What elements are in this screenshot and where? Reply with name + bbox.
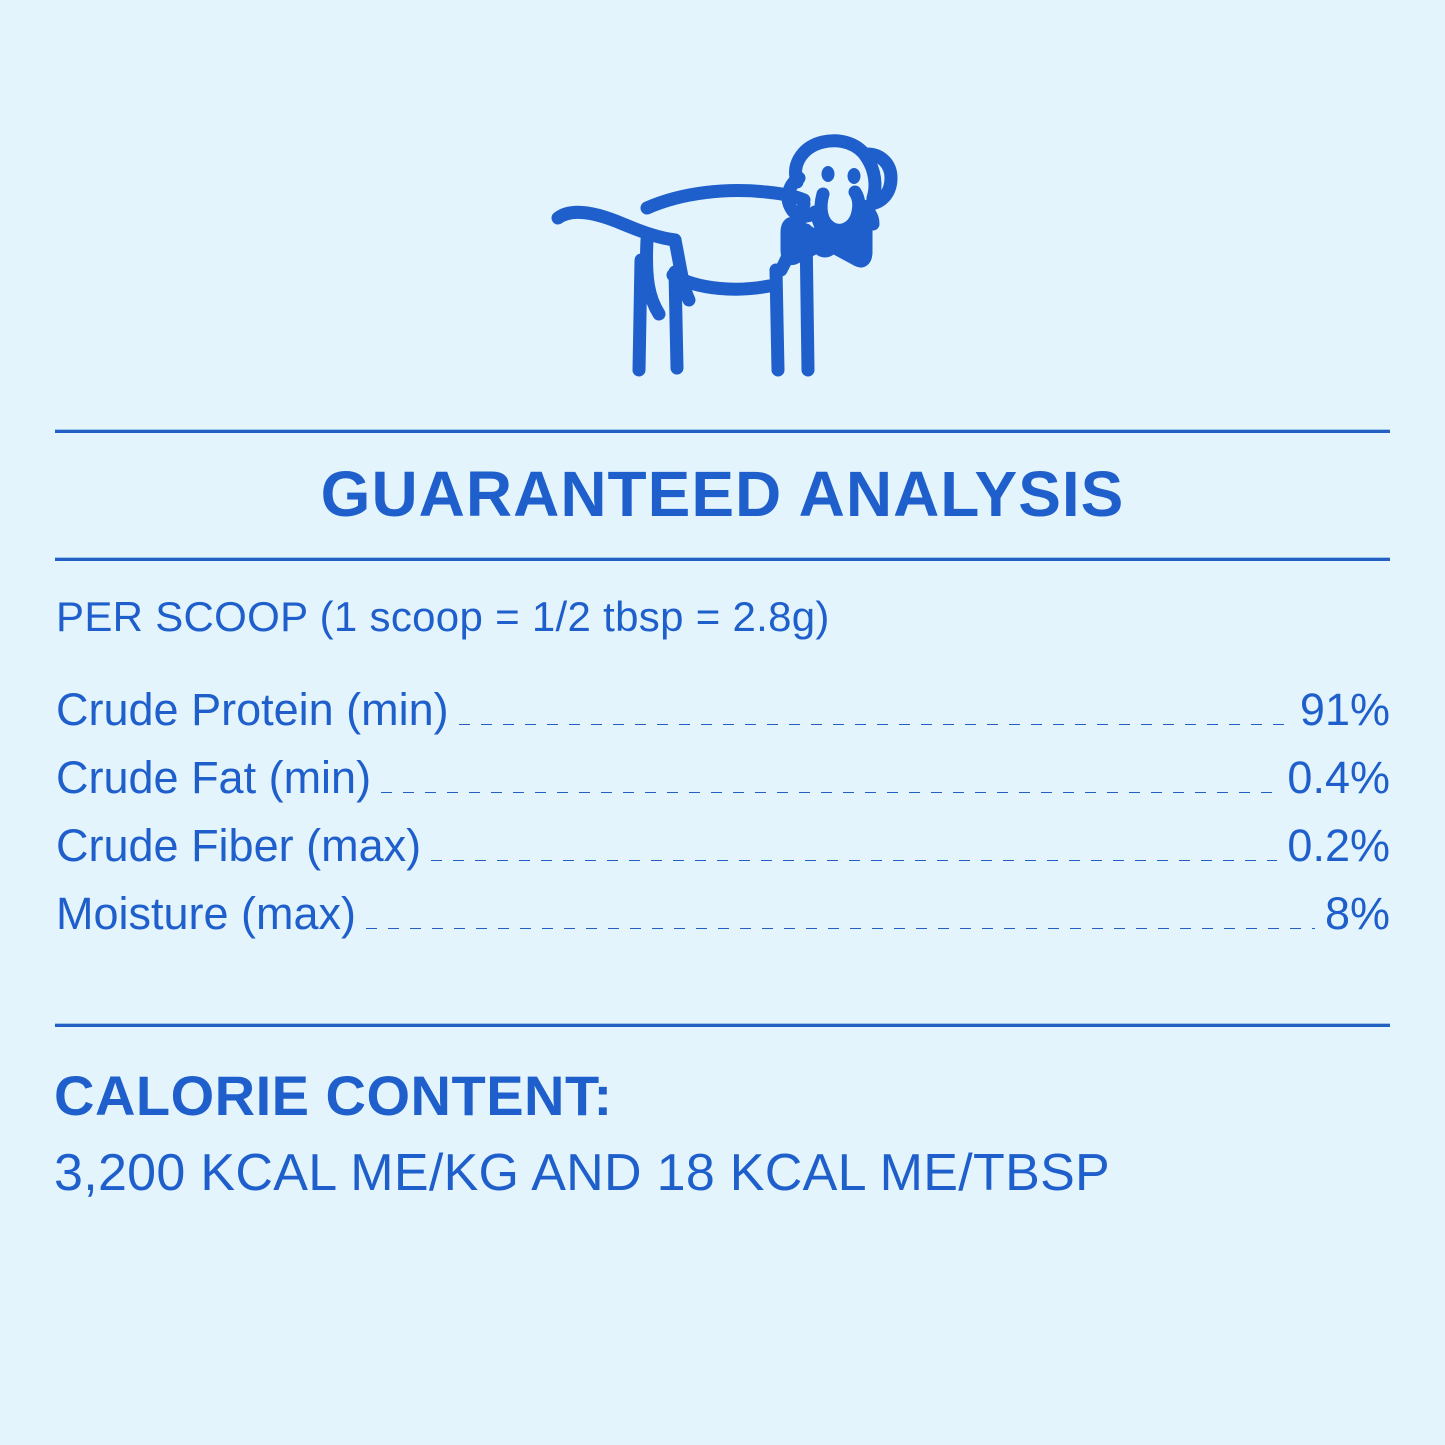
nutrient-label: Crude Protein (min) (56, 684, 449, 736)
nutrient-value: 8% (1325, 888, 1390, 940)
divider-top (55, 429, 1390, 433)
dog-eye-left-icon (821, 166, 834, 182)
divider-bottom (55, 1023, 1390, 1027)
table-row: Crude Fiber (max) 0.2% (56, 820, 1390, 888)
calorie-content-value: 3,200 KCAL ME/KG AND 18 KCAL ME/TBSP (54, 1147, 1110, 1199)
divider-middle (55, 557, 1390, 561)
guaranteed-analysis-list: Crude Protein (min) 91% Crude Fat (min) … (56, 684, 1390, 956)
page-title: GUARANTEED ANALYSIS (0, 462, 1445, 526)
table-row: Crude Protein (min) 91% (56, 684, 1390, 752)
nutrient-label: Crude Fiber (max) (56, 820, 421, 872)
dog-with-bowtie-icon (523, 120, 923, 395)
nutrient-label: Moisture (max) (56, 888, 356, 940)
guaranteed-analysis-panel: GUARANTEED ANALYSIS PER SCOOP (1 scoop =… (0, 0, 1445, 1445)
table-row: Crude Fat (min) 0.4% (56, 752, 1390, 820)
calorie-content-heading: CALORIE CONTENT: (54, 1068, 613, 1124)
serving-size-label: PER SCOOP (1 scoop = 1/2 tbsp = 2.8g) (56, 593, 830, 641)
nutrient-value: 0.2% (1287, 820, 1390, 872)
table-row: Moisture (max) 8% (56, 888, 1390, 956)
dog-with-bowtie-logo (0, 120, 1445, 395)
dotted-leader (381, 792, 1277, 793)
nutrient-value: 91% (1300, 684, 1390, 736)
dotted-leader (366, 928, 1315, 929)
dotted-leader (459, 724, 1290, 725)
dotted-leader (431, 860, 1277, 861)
nutrient-value: 0.4% (1287, 752, 1390, 804)
nutrient-label: Crude Fat (min) (56, 752, 371, 804)
dog-eye-right-icon (847, 168, 860, 184)
